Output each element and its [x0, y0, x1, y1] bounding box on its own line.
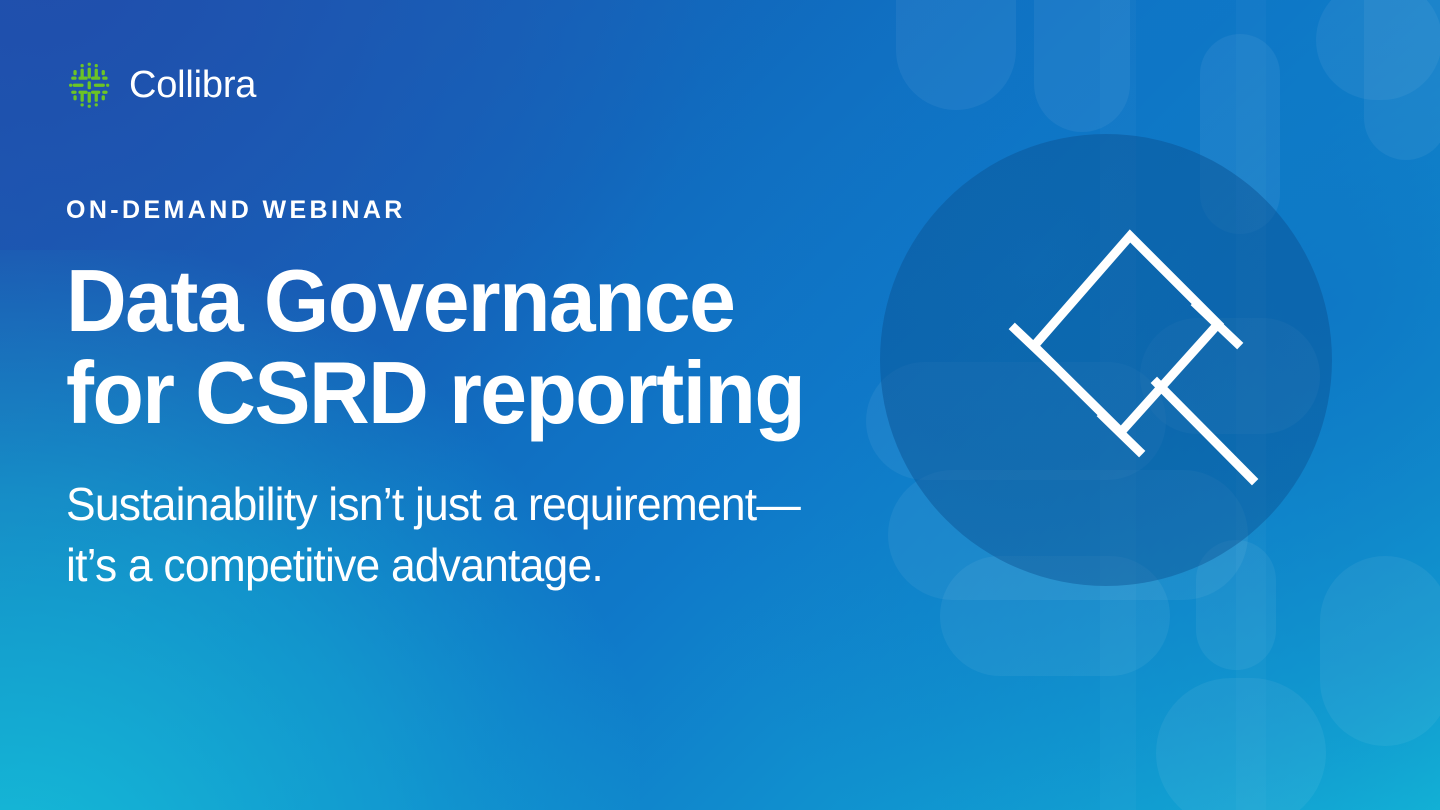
decorative-capsule: [1316, 0, 1440, 100]
decorative-capsule: [1364, 0, 1440, 160]
decorative-capsule: [1034, 0, 1130, 132]
subheadline-line-1: Sustainability isn’t just a requirement—: [66, 474, 954, 535]
headline-line-2: for CSRD reporting: [66, 347, 945, 439]
decorative-capsule: [896, 0, 1016, 110]
subheadline: Sustainability isn’t just a requirement—…: [66, 474, 954, 596]
collibra-grid-mark-icon: [66, 62, 112, 108]
decorative-capsule: [1320, 556, 1440, 746]
collibra-logo[interactable]: Collibra: [66, 62, 256, 108]
gavel-icon: [975, 195, 1275, 495]
page-title: Data Governance for CSRD reporting: [66, 255, 945, 438]
decorative-capsule: [1156, 678, 1326, 810]
eyebrow-label: ON-DEMAND WEBINAR: [66, 198, 986, 223]
collibra-wordmark: Collibra: [129, 66, 256, 104]
subheadline-line-2: it’s a competitive advantage.: [66, 535, 954, 596]
banner-content: ON-DEMAND WEBINAR Data Governance for CS…: [66, 198, 986, 596]
webinar-banner: Collibra ON-DEMAND WEBINAR Data Governan…: [0, 0, 1440, 810]
headline-line-1: Data Governance: [66, 255, 945, 347]
